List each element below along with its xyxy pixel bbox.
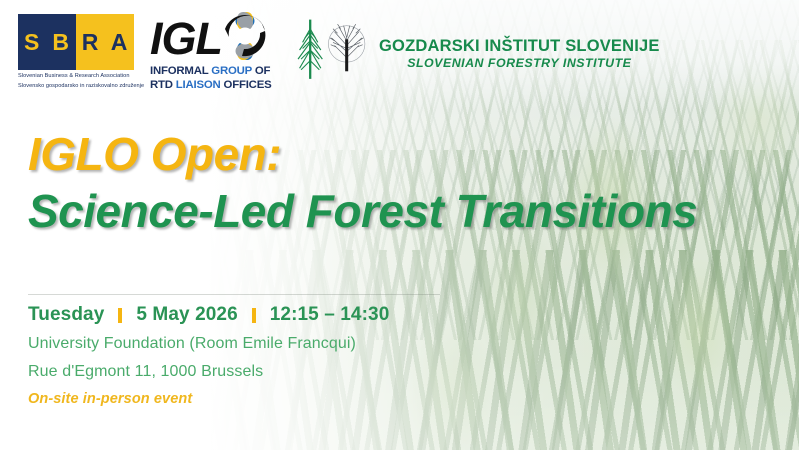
iglo-sub-offices: OFFICES <box>224 79 272 91</box>
iglo-subtitle-line-1: INFORMAL GROUP OF <box>150 65 282 78</box>
sbra-tagline-sl: Slovensko gospodarsko in raziskovalno zd… <box>18 83 134 90</box>
deciduous-tree-icon <box>328 24 364 71</box>
sbra-logo: S B R A Slovenian Business & Research As… <box>18 14 134 91</box>
details-divider <box>28 294 440 295</box>
iglo-sub-informal: INFORMAL <box>150 65 208 77</box>
iglo-sub-liaison: LIAISON <box>176 79 221 91</box>
logo-strip: S B R A Slovenian Business & Research As… <box>0 0 799 102</box>
datetime-separator-2 <box>252 308 256 323</box>
iglo-sub-group: GROUP <box>211 65 252 77</box>
sbra-letter-a: A <box>111 29 129 56</box>
iglo-sub-rtd: RTD <box>150 79 173 91</box>
sbra-logo-right-half: R A <box>76 14 134 70</box>
iglo-logo: IGL <box>150 12 282 93</box>
event-time: 12:15 – 14:30 <box>270 303 390 327</box>
forestry-institute-name-en: SLOVENIAN FORESTRY INSTITUTE <box>379 56 660 71</box>
sbra-tagline-en: Slovenian Business & Research Associatio… <box>18 73 134 80</box>
event-details-block: Tuesday 5 May 2026 12:15 – 14:30 Univers… <box>28 294 488 409</box>
event-day: Tuesday <box>28 303 104 327</box>
iglo-wordmark: IGL <box>150 16 222 61</box>
datetime-separator-1 <box>118 308 122 323</box>
conifer-tree-icon <box>298 20 322 79</box>
event-banner: S B R A Slovenian Business & Research As… <box>0 0 799 450</box>
sbra-letter-b: B <box>52 29 70 56</box>
event-title-primary: IGLO Open: <box>28 126 788 182</box>
iglo-subtitle-line-2: RTD LIAISON OFFICES <box>150 79 282 92</box>
iglo-logo-mark: IGL <box>150 12 282 64</box>
event-venue-line-1: University Foundation (Room Emile Francq… <box>28 333 488 355</box>
sbra-logo-mark: S B R A <box>18 14 134 70</box>
event-date: 5 May 2026 <box>136 303 237 327</box>
forestry-institute-logo: GOZDARSKI INŠTITUT SLOVENIJE SLOVENIAN F… <box>295 12 660 93</box>
forestry-trees-icon <box>295 12 371 93</box>
forestry-institute-name-sl: GOZDARSKI INŠTITUT SLOVENIJE <box>379 37 660 56</box>
sbra-letter-s: S <box>24 29 40 56</box>
event-title-secondary: Science-Led Forest Transitions <box>28 182 788 240</box>
woven-ring-icon <box>220 11 270 66</box>
event-mode: On-site in-person event <box>28 390 488 409</box>
event-datetime-row: Tuesday 5 May 2026 12:15 – 14:30 <box>28 303 488 327</box>
headline-block: IGLO Open: Science-Led Forest Transition… <box>28 126 788 240</box>
event-venue-line-2: Rue d'Egmont 11, 1000 Brussels <box>28 361 488 383</box>
forestry-institute-text: GOZDARSKI INŠTITUT SLOVENIJE SLOVENIAN F… <box>379 35 660 71</box>
sbra-logo-left-half: S B <box>18 14 76 70</box>
sbra-letter-r: R <box>82 29 100 56</box>
iglo-sub-of: OF <box>255 65 270 77</box>
